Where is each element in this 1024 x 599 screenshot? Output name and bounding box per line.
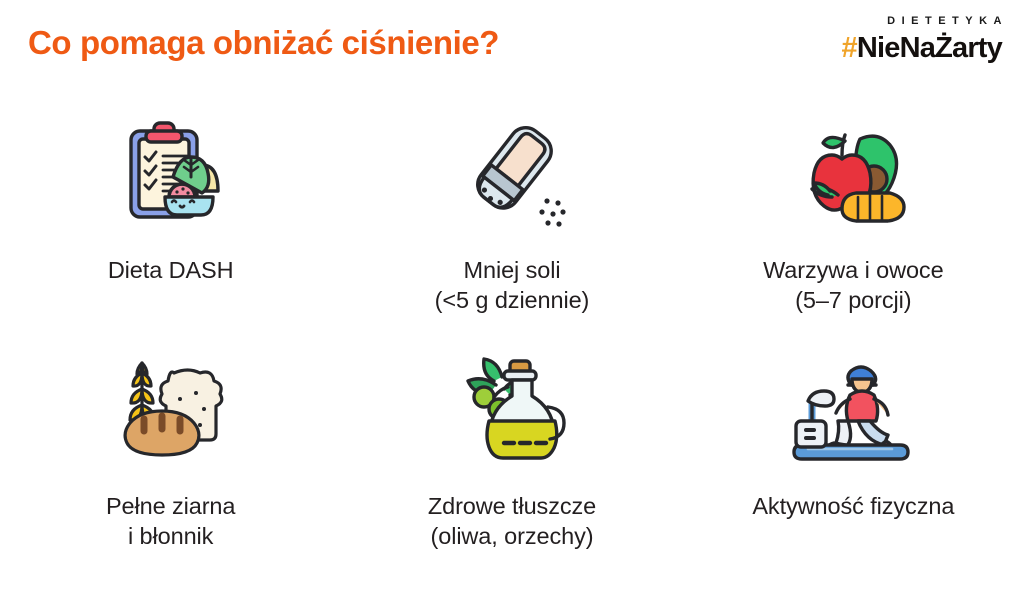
page-title: Co pomaga obniżać ciśnienie?: [28, 24, 499, 62]
bread-wheat-icon: [108, 344, 234, 474]
treadmill-runner-icon: [790, 344, 916, 474]
tip-caption-line1: Aktywność fizyczna: [752, 493, 954, 519]
tip-caption: Aktywność fizyczna: [752, 492, 954, 522]
tip-caption: Zdrowe tłuszcze (oliwa, orzechy): [428, 492, 596, 552]
logo-kicker: DIETETYKA: [842, 16, 1008, 27]
logo-wordmark: #NieNaŻarty: [842, 34, 1002, 63]
fruits-vegetables-icon: [790, 108, 916, 238]
tips-grid: Dieta DASH: [0, 108, 1024, 580]
tip-caption-line2: (oliwa, orzechy): [428, 522, 596, 552]
tip-caption: Warzywa i owoce (5–7 porcji): [763, 256, 943, 316]
salt-shaker-icon: [452, 108, 572, 238]
tip-caption-line1: Mniej soli: [464, 257, 561, 283]
brand-logo: DIETETYKA #NieNaŻarty: [842, 16, 1002, 63]
clipboard-salad-icon: [111, 108, 231, 238]
tip-caption-line1: Zdrowe tłuszcze: [428, 493, 596, 519]
tip-caption: Mniej soli (<5 g dziennie): [435, 256, 590, 316]
tip-caption: Dieta DASH: [108, 256, 234, 286]
tip-item-pelne-ziarna: Pełne ziarna i błonnik: [0, 344, 341, 580]
tip-item-zdrowe-tluszcze: Zdrowe tłuszcze (oliwa, orzechy): [341, 344, 682, 580]
tip-caption-line2: i błonnik: [106, 522, 235, 552]
tip-item-mniej-soli: Mniej soli (<5 g dziennie): [341, 108, 682, 344]
tip-item-dieta-dash: Dieta DASH: [0, 108, 341, 344]
tip-caption-line1: Warzywa i owoce: [763, 257, 943, 283]
tip-caption-line2: (5–7 porcji): [763, 286, 943, 316]
logo-wordmark-text: NieNaŻarty: [857, 32, 1002, 64]
tip-caption-line2: (<5 g dziennie): [435, 286, 590, 316]
tip-item-warzywa-owoce: Warzywa i owoce (5–7 porcji): [683, 108, 1024, 344]
tip-caption-line1: Dieta DASH: [108, 257, 234, 283]
header: Co pomaga obniżać ciśnienie? DIETETYKA #…: [0, 0, 1024, 100]
tip-caption: Pełne ziarna i błonnik: [106, 492, 235, 552]
tip-item-aktywnosc-fizyczna: Aktywność fizyczna: [683, 344, 1024, 580]
olive-oil-bottle-icon: [452, 344, 572, 474]
hash-icon: #: [842, 32, 857, 64]
tip-caption-line1: Pełne ziarna: [106, 493, 235, 519]
